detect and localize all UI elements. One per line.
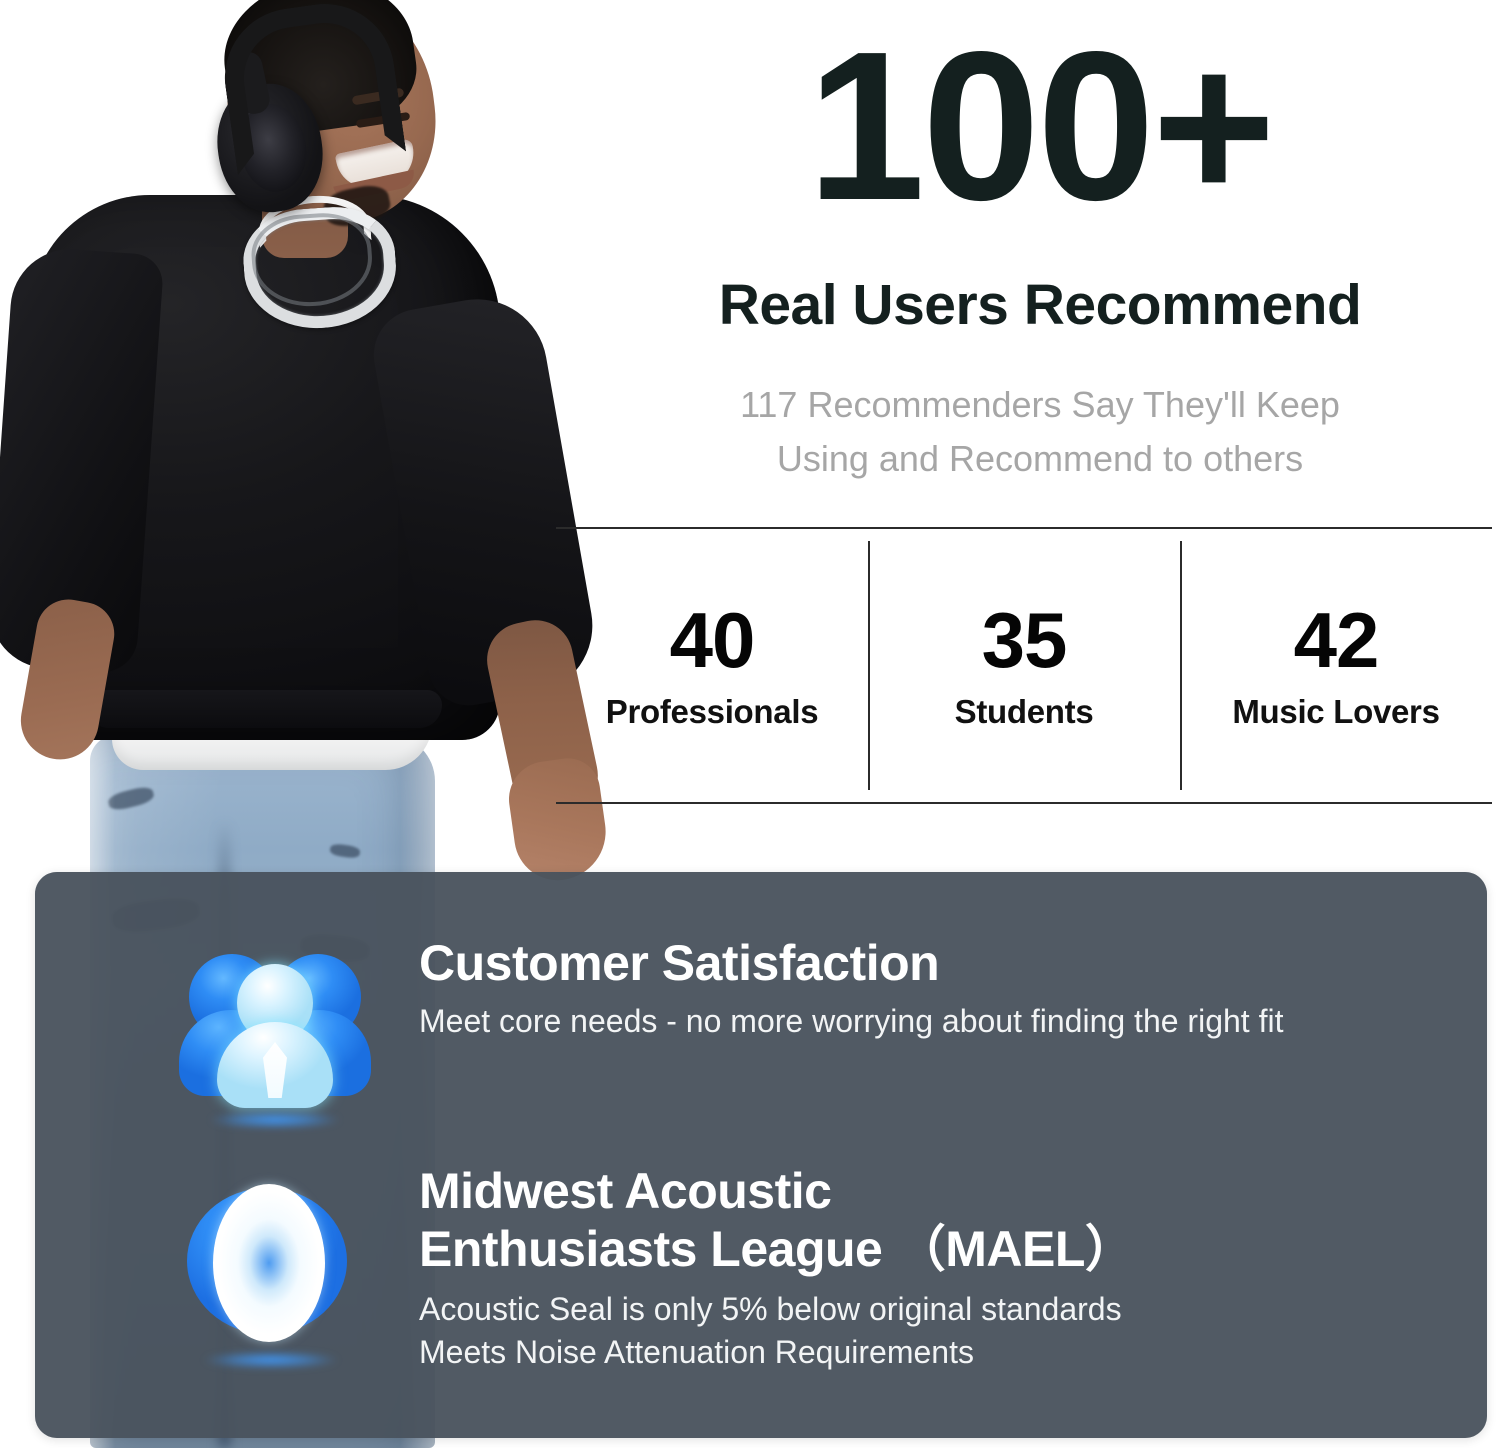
icon-glow [209,1112,341,1128]
stat-label: Professionals [606,693,819,731]
headline-subtitle: Real Users Recommend [640,272,1440,338]
people-group-icon [175,930,375,1130]
stat-cell: 40 Professionals [556,529,868,802]
feature-title: Midwest Acoustic Enthusiasts League （MAE… [419,1162,1134,1278]
stat-value: 40 [670,601,755,679]
stat-value: 35 [982,601,1067,679]
stat-cell: 35 Students [868,529,1180,802]
sphere-light-overlay [213,1184,325,1342]
headline-count: 100+ [640,22,1440,230]
stats-table: 40 Professionals 35 Students 42 Music Lo… [556,527,1492,804]
sphere-seal-icon [165,1162,375,1372]
feature-title: Customer Satisfaction [419,934,1283,992]
feature-subtitle: Acoustic Seal is only 5% below original … [419,1288,1134,1374]
feature-row-mael: Midwest Acoustic Enthusiasts League （MAE… [165,1162,1134,1374]
feature-subtitle: Meet core needs - no more worrying about… [419,1000,1283,1043]
stat-label: Music Lovers [1232,693,1439,731]
feature-card: Customer Satisfaction Meet core needs - … [35,872,1487,1438]
infographic-page: 100+ Real Users Recommend 117 Recommende… [0,0,1500,1448]
icon-glow [203,1352,339,1368]
stat-cell: 42 Music Lovers [1180,529,1492,802]
feature-row-customer-satisfaction: Customer Satisfaction Meet core needs - … [175,930,1283,1130]
feature-text: Midwest Acoustic Enthusiasts League （MAE… [375,1162,1134,1374]
feature-text: Customer Satisfaction Meet core needs - … [375,930,1283,1043]
sweatshirt-hem [92,690,442,728]
kicker-text: 117 Recommenders Say They'll Keep Using … [600,378,1480,486]
stat-value: 42 [1294,601,1379,679]
stat-label: Students [955,693,1094,731]
